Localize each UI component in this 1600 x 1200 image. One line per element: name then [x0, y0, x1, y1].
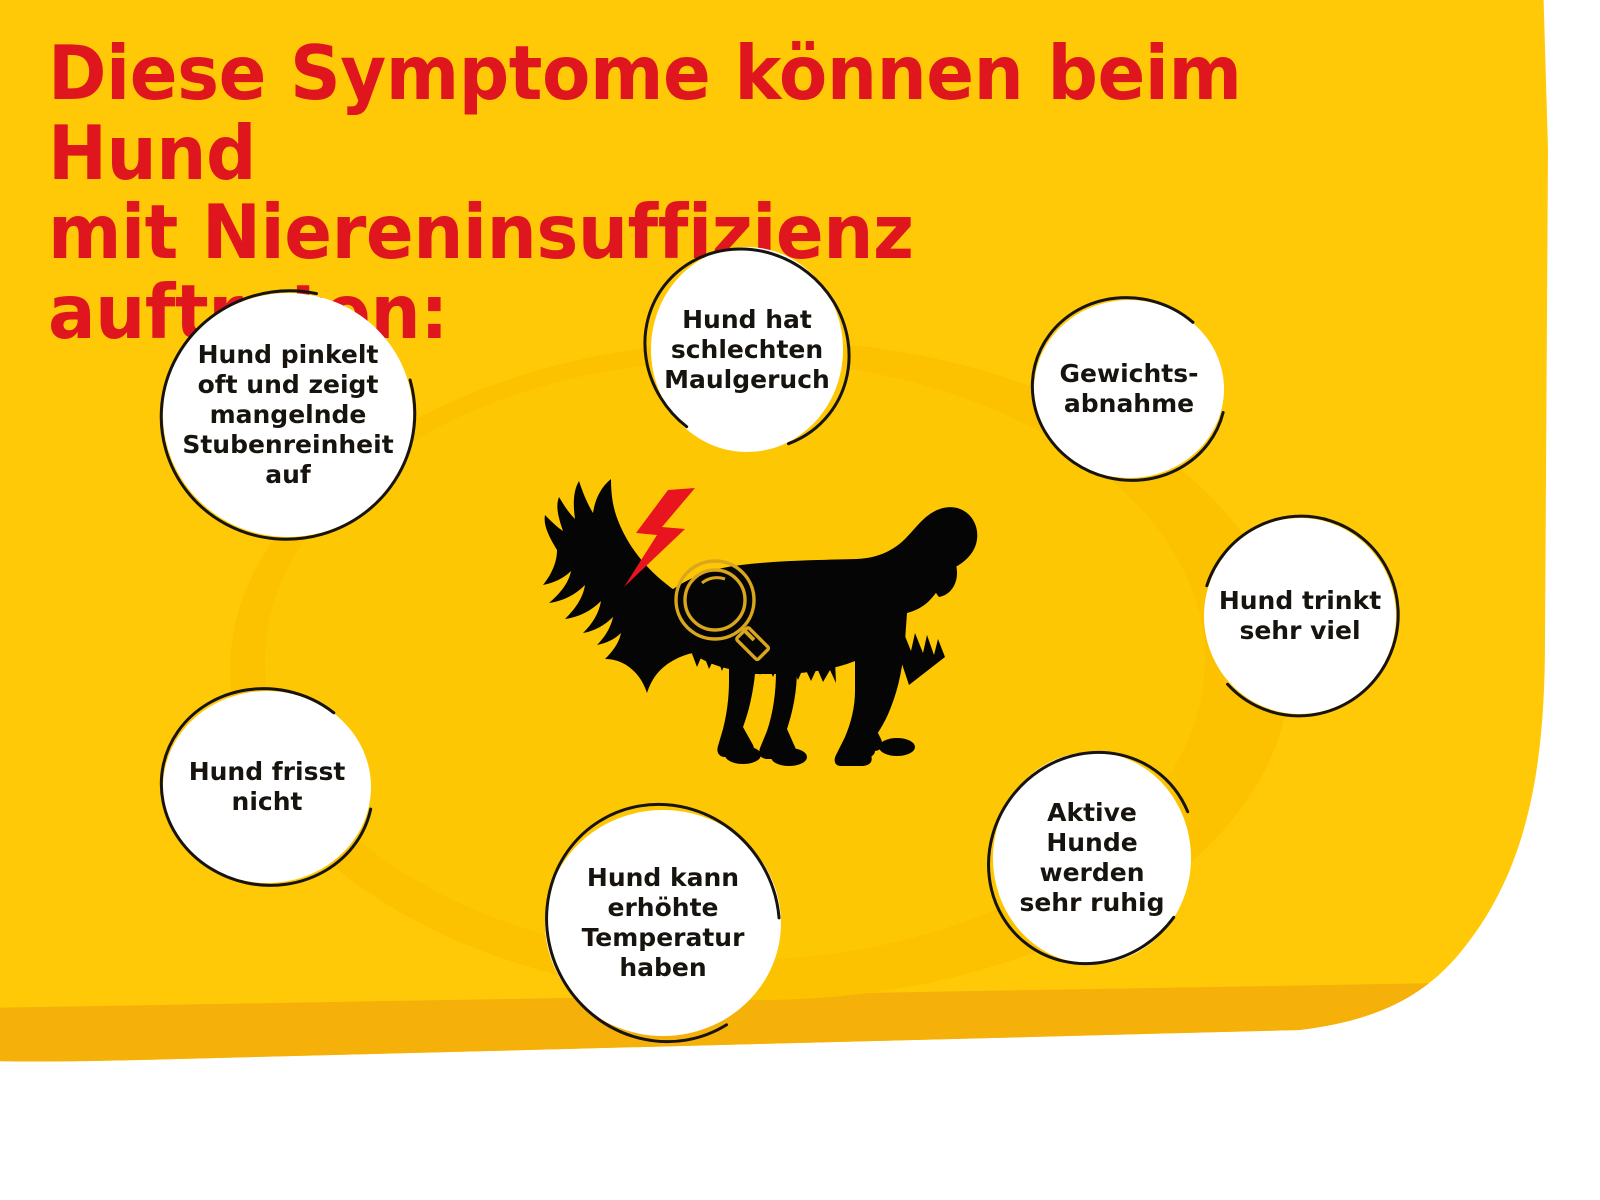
symptom-bubble-trinkt[interactable]: Hund trinkt sehr viel: [1204, 518, 1396, 714]
symptom-bubble-ruhig[interactable]: Aktive Hunde werden sehr ruhig: [993, 752, 1191, 964]
symptom-bubble-temperatur[interactable]: Hund kann erhöhte Temperatur haben: [545, 810, 781, 1036]
bubble-label: Hund pinkelt oft und zeigt mangelnde Stu…: [163, 340, 413, 490]
bubble-label: Hund kann erhöhte Temperatur haben: [545, 863, 781, 983]
dog-silhouette: [543, 479, 977, 766]
dog-illustration: [505, 455, 985, 775]
symptom-bubble-gewicht[interactable]: Gewichts- abnahme: [1034, 300, 1224, 478]
infographic-root: Diese Symptome können beim Hund mit Nier…: [0, 0, 1600, 1200]
bubble-label: Hund hat schlechten Maulgeruch: [651, 305, 843, 395]
symptom-bubble-pinkelt[interactable]: Hund pinkelt oft und zeigt mangelnde Stu…: [163, 293, 413, 537]
lightning-bolt: [624, 488, 695, 587]
bubble-label: Gewichts- abnahme: [1034, 359, 1224, 419]
bubble-label: Aktive Hunde werden sehr ruhig: [993, 798, 1191, 918]
bubble-label: Hund frisst nicht: [163, 757, 371, 817]
symptom-bubble-maulgeruch[interactable]: Hund hat schlechten Maulgeruch: [651, 247, 843, 452]
symptom-bubble-frisst[interactable]: Hund frisst nicht: [163, 691, 371, 883]
bubble-label: Hund trinkt sehr viel: [1204, 586, 1396, 646]
